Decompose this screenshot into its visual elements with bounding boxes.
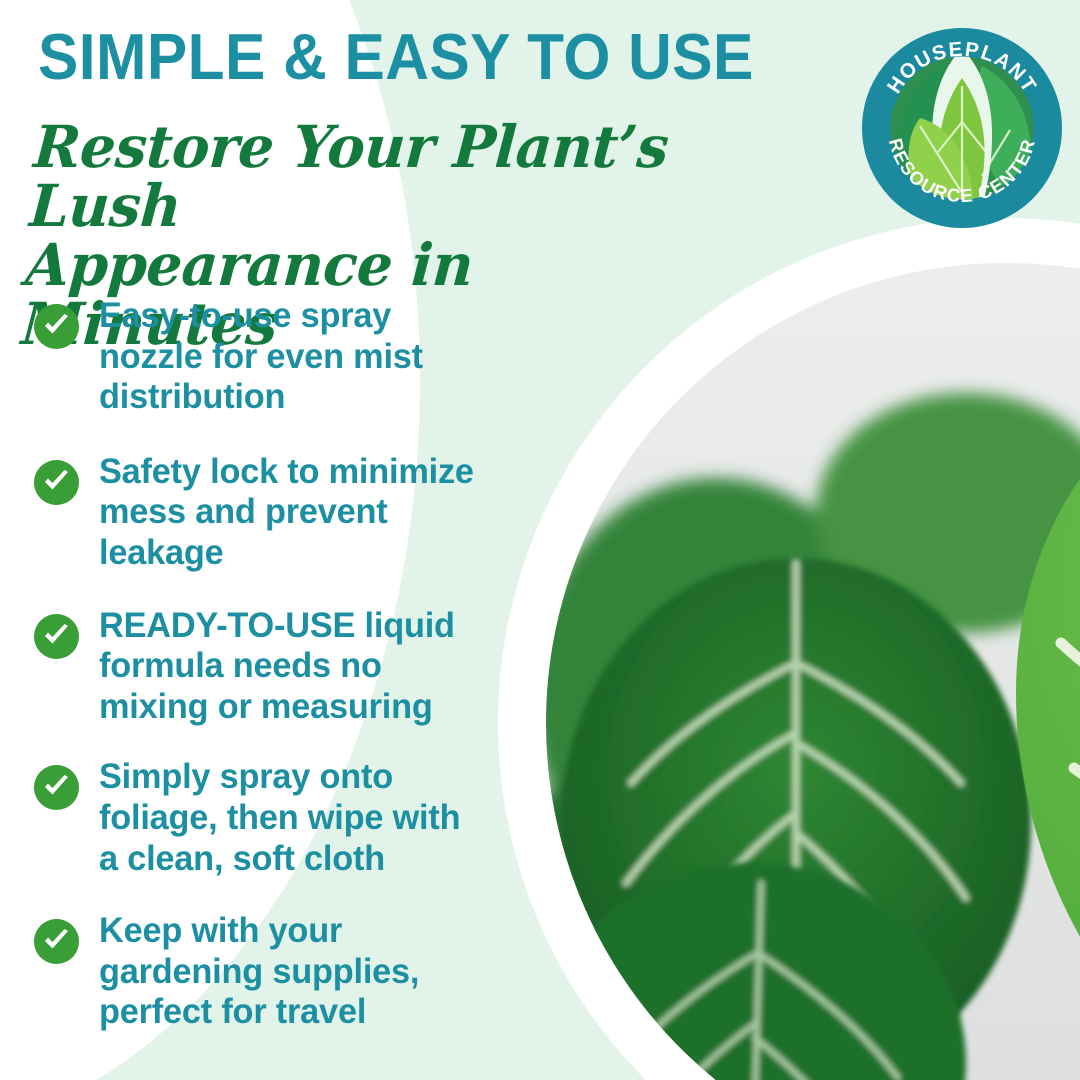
subheadline-line-1: Restore Your Plant’s Lush [28,118,735,236]
list-item-line: READY-TO-USE liquid [99,606,501,647]
check-circle-icon [34,614,79,659]
check-circle-icon [34,919,79,964]
list-item-line: distribution [99,377,491,418]
list-item-line: Easy-to-use spray [99,296,491,337]
list-item-line: Simply spray onto [99,757,525,798]
list-item-line: gardening supplies, [99,952,462,993]
list-item-line: perfect for travel [99,992,462,1033]
check-circle-icon [34,304,79,349]
list-item-line: Safety lock to minimize [99,452,525,493]
list-item-line: formula needs no [99,646,501,687]
list-item-label: READY-TO-USE liquid formula needs no mix… [99,606,501,728]
list-item: READY-TO-USE liquid formula needs no mix… [34,606,534,728]
list-item-label: Easy-to-use spray nozzle for even mist d… [99,296,491,418]
check-circle-icon [34,460,79,505]
list-item: Keep with your gardening supplies, perfe… [34,911,534,1033]
list-item-label: Keep with your gardening supplies, perfe… [99,911,462,1033]
houseplant-resource-center-logo: HOUSEPLANT RESOURCE CENTER [860,26,1064,230]
infographic-canvas: SIMPLE & EASY TO USE Restore Your Plant’… [0,0,1080,1080]
list-item-line: Keep with your [99,911,462,952]
list-item-line: mess and prevent [99,492,525,533]
list-item-line: foliage, then wipe with [99,798,525,839]
list-item-line: nozzle for even mist [99,337,491,378]
check-circle-icon [34,765,79,810]
feature-list: Easy-to-use spray nozzle for even mist d… [34,296,534,1059]
list-item: Safety lock to minimize mess and prevent… [34,452,534,574]
list-item-label: Simply spray onto foliage, then wipe wit… [99,757,525,879]
list-item-line: mixing or measuring [99,687,501,728]
list-item: Simply spray onto foliage, then wipe wit… [34,757,534,879]
list-item-label: Safety lock to minimize mess and prevent… [99,452,525,574]
list-item-line: leakage [99,533,525,574]
list-item: Easy-to-use spray nozzle for even mist d… [34,296,534,418]
list-item-line: a clean, soft cloth [99,839,525,880]
headline: SIMPLE & EASY TO USE [38,24,754,89]
